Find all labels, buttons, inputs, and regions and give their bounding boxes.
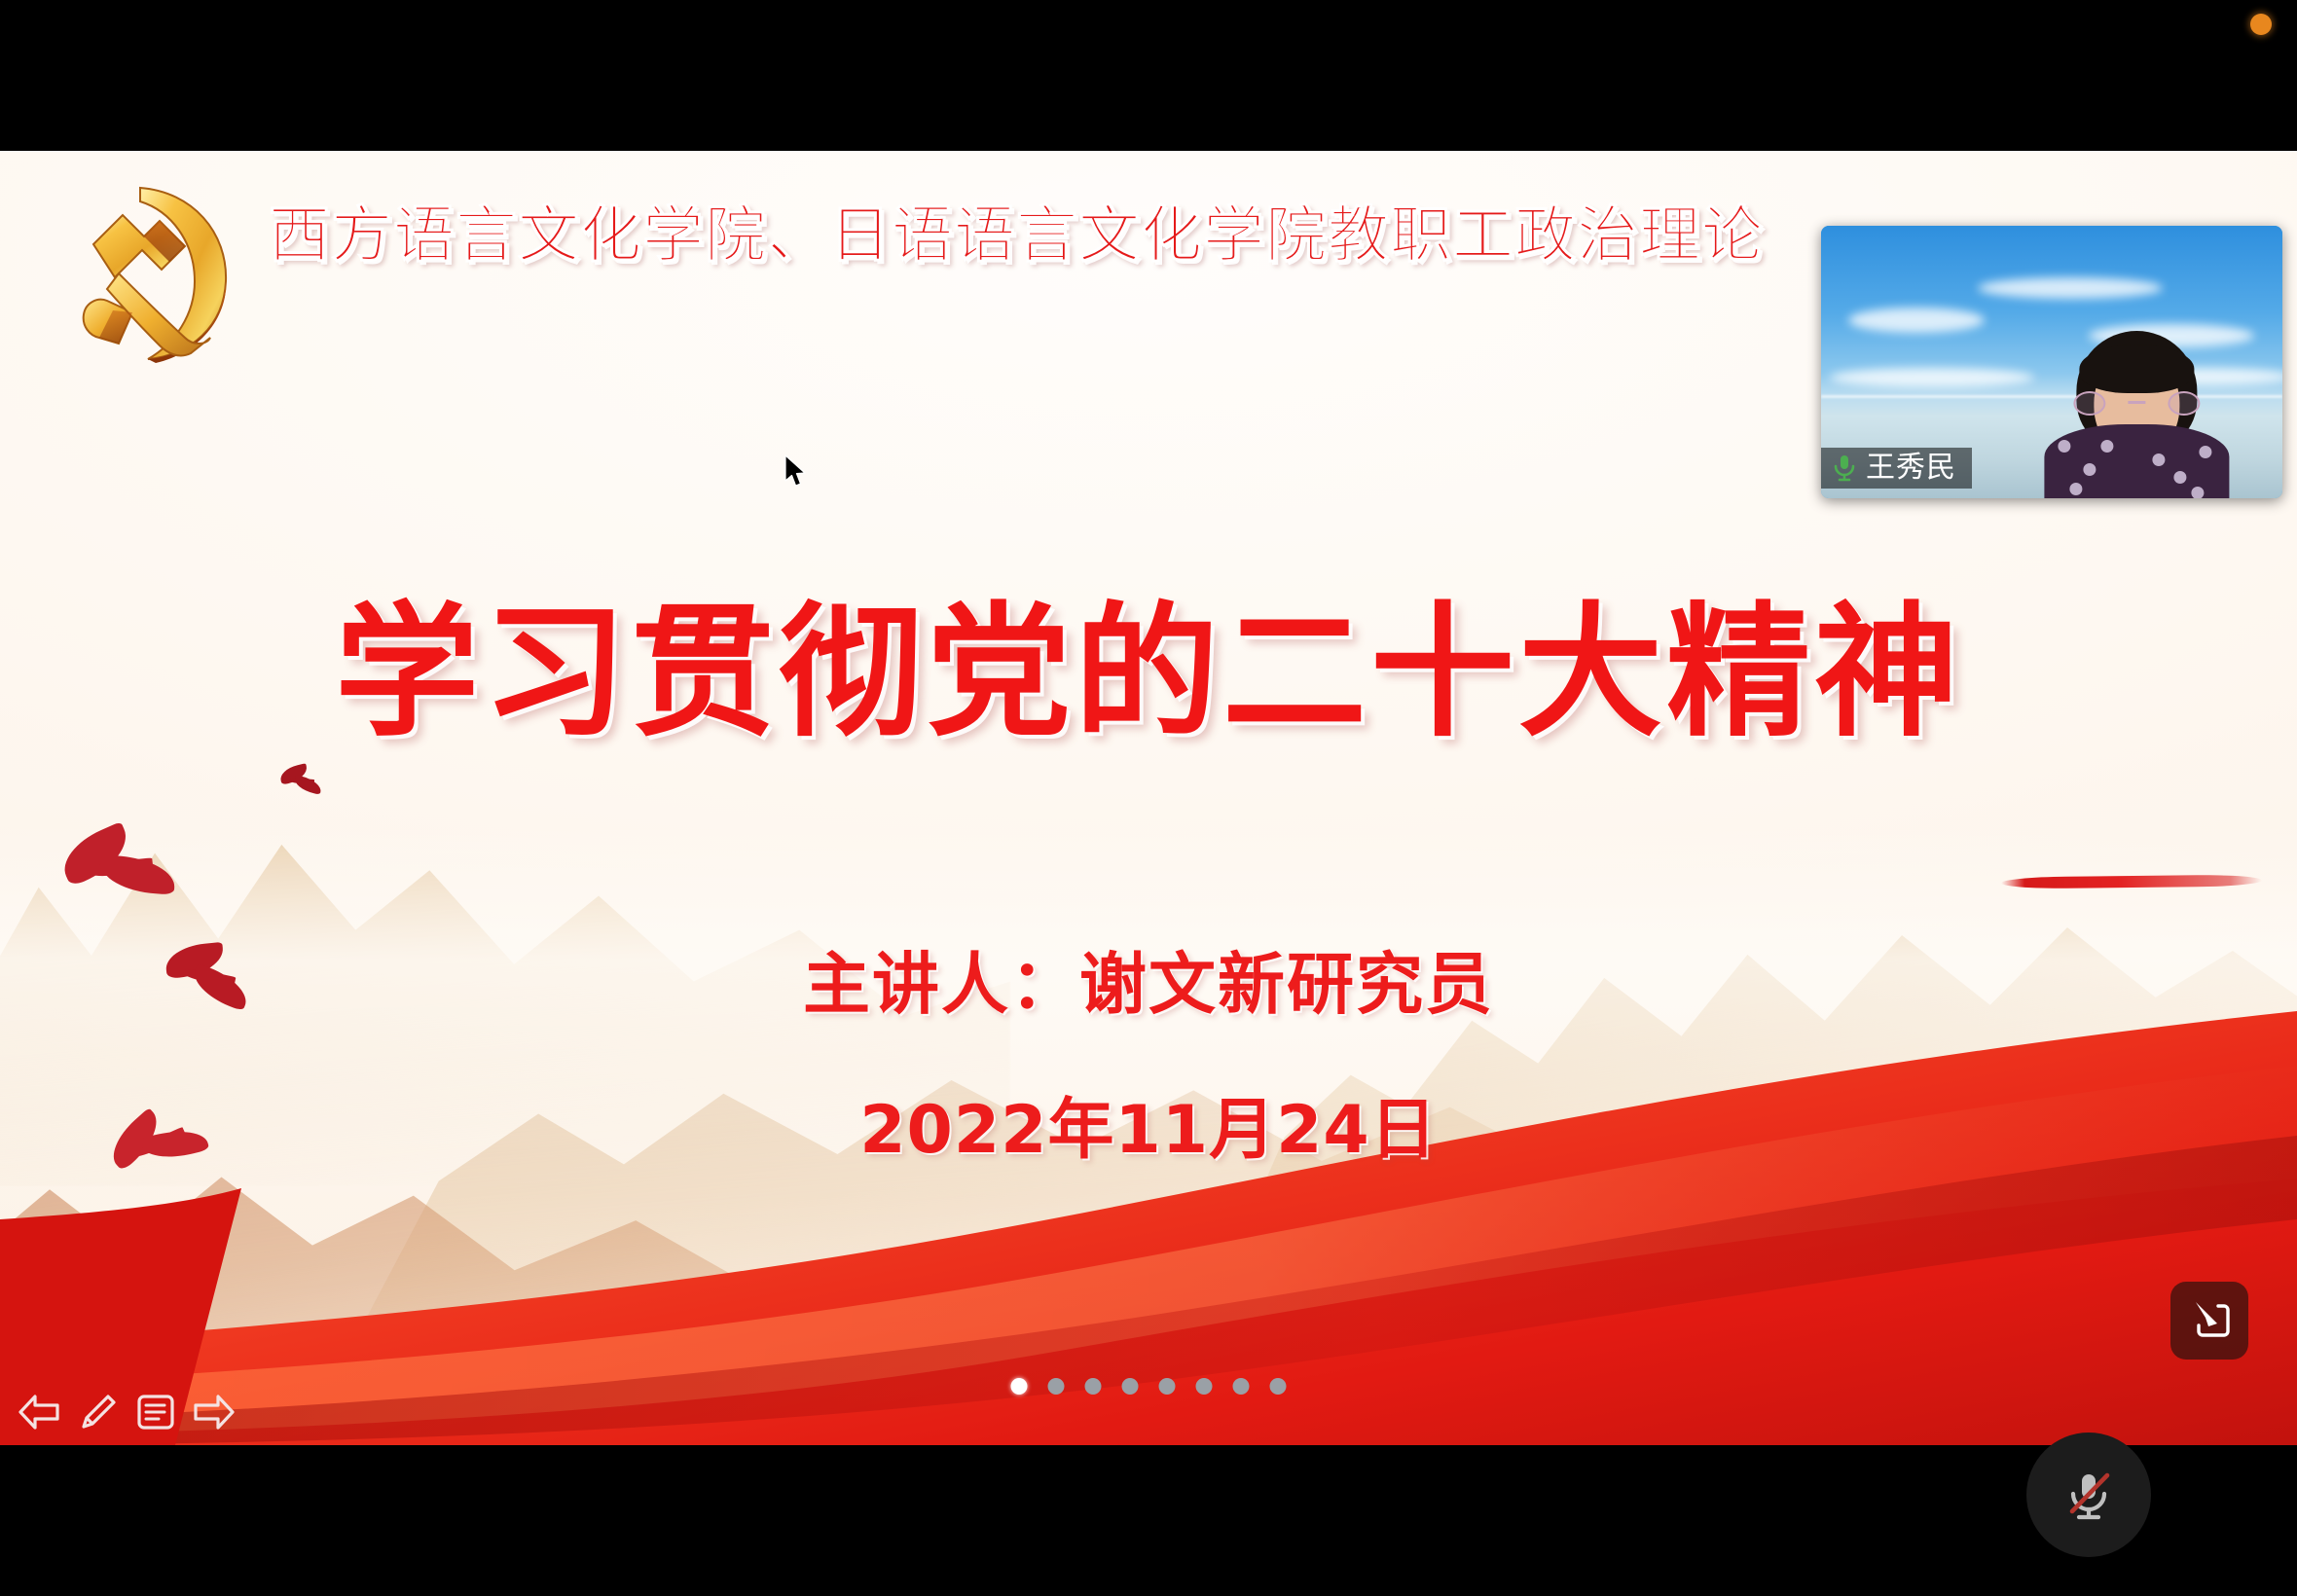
notes-button[interactable] [130, 1387, 181, 1437]
annotate-pencil-icon [2185, 1296, 2234, 1345]
cloud-shape [1830, 368, 2034, 387]
slide-banner-title: 西方语言文化学院、日语语言文化学院教职工政治理论 [269, 201, 1764, 271]
slide-navigation-toolbar[interactable] [14, 1387, 239, 1437]
cloud-shape [1848, 308, 1985, 333]
eyeglasses-right-lens [2168, 391, 2200, 416]
page-dot-3[interactable] [1085, 1378, 1102, 1395]
red-dove-icon [277, 764, 324, 796]
slide-speaker-line: 主讲人：谢文新研究员 [0, 929, 2297, 1027]
cpc-party-emblem-icon [47, 172, 241, 372]
slide-date-line: 2022年11月24日 [0, 1075, 2297, 1172]
participant-name: 王秀民 [1866, 453, 1956, 483]
page-dot-6[interactable] [1196, 1378, 1213, 1395]
previous-slide-button[interactable] [14, 1387, 64, 1437]
page-dot-5[interactable] [1159, 1378, 1176, 1395]
page-dot-8[interactable] [1270, 1378, 1287, 1395]
next-slide-button[interactable] [189, 1387, 239, 1437]
slide-main-title: 学习贯彻党的二十大精神 [0, 555, 2297, 764]
mute-toggle-button[interactable] [2026, 1433, 2151, 1557]
microphone-muted-icon [2057, 1463, 2121, 1527]
slide-pagination-dots[interactable] [1011, 1378, 1287, 1395]
annotate-button[interactable] [2170, 1282, 2248, 1360]
eyeglasses-left-lens [2073, 391, 2105, 416]
pen-tool-button[interactable] [72, 1387, 123, 1437]
microphone-on-icon [1832, 453, 1857, 483]
participant-video-tile[interactable]: 王秀民 [1821, 226, 2282, 498]
page-dot-1[interactable] [1011, 1378, 1028, 1395]
red-dove-icon [56, 824, 180, 910]
app-root: 西方语言文化学院、日语语言文化学院教职工政治理论 学习贯彻党的二十大精神 主讲人… [0, 0, 2297, 1596]
participant-name-badge: 王秀民 [1821, 448, 1972, 489]
page-dot-4[interactable] [1122, 1378, 1139, 1395]
page-dot-7[interactable] [1233, 1378, 1250, 1395]
recording-status-dot [2250, 14, 2272, 35]
participant-avatar [2044, 331, 2229, 498]
page-dot-2[interactable] [1048, 1378, 1065, 1395]
mouse-pointer-icon [784, 454, 809, 493]
